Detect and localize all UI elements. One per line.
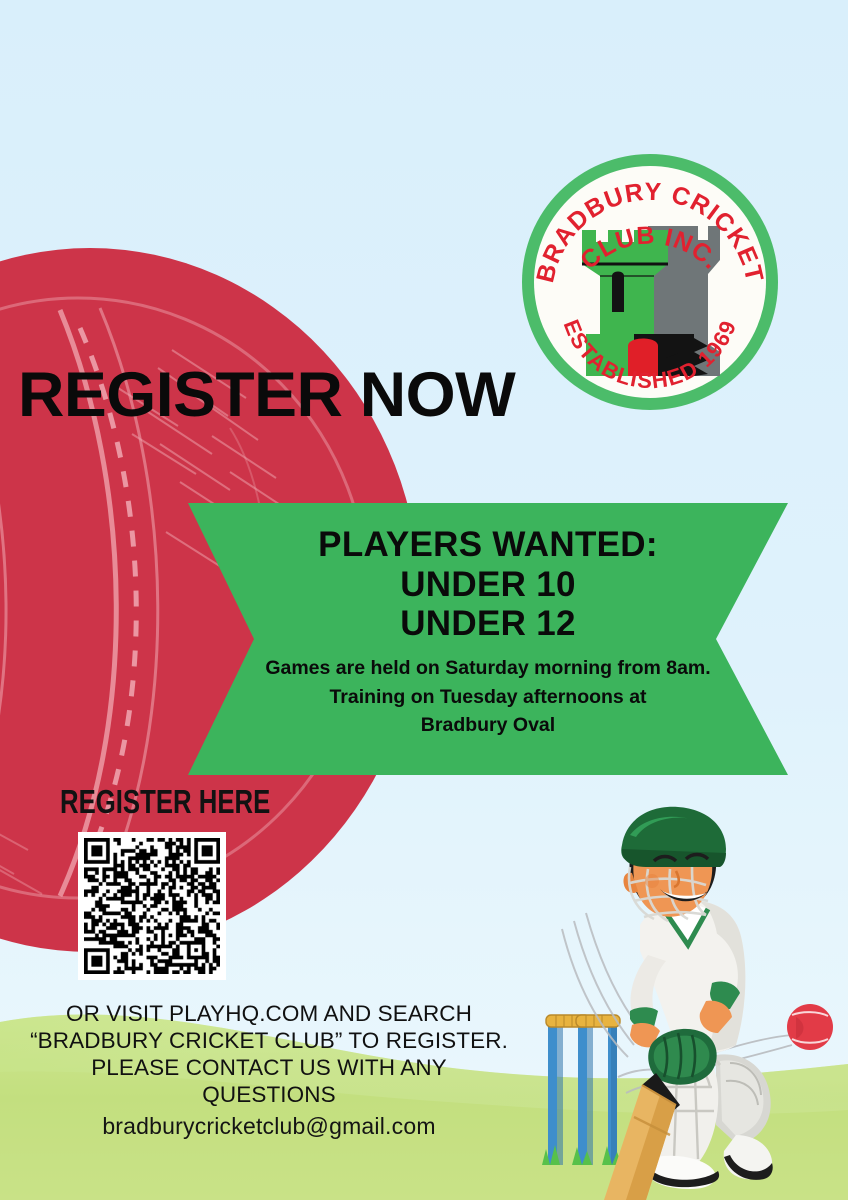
banner-body-2: Training on Tuesday afternoons at [329,683,646,712]
banner-line-3: UNDER 12 [400,604,576,644]
footer-line-4: QUESTIONS [24,1081,514,1108]
contact-email[interactable]: bradburycricketclub@gmail.com [24,1113,514,1140]
cricket-ball-icon [787,1004,833,1050]
register-here-label: REGISTER HERE [60,783,270,821]
banner-line-1: PLAYERS WANTED: [318,525,658,565]
back-leg [716,1054,773,1179]
cricket-batsman-illustration [530,805,848,1200]
banner-body-1: Games are held on Saturday morning from … [265,654,710,683]
players-wanted-banner: PLAYERS WANTED: UNDER 10 UNDER 12 Games … [188,503,788,775]
banner-body-3: Bradbury Oval [421,711,555,740]
footer-line-2: “BRADBURY CRICKET CLUB” TO REGISTER. [24,1027,514,1054]
qr-code[interactable] [78,832,226,980]
qr-code-canvas[interactable] [84,838,220,974]
footer-instructions: OR VISIT PLAYHQ.COM AND SEARCH “BRADBURY… [24,1000,514,1108]
footer-line-3: PLEASE CONTACT US WITH ANY [24,1054,514,1081]
banner-line-2: UNDER 10 [400,565,576,605]
poster-canvas: BRADBURY CRICKET CLUB INC. ESTABLISHED 1… [0,0,848,1200]
page-title: REGISTER NOW [18,364,569,427]
footer-line-1: OR VISIT PLAYHQ.COM AND SEARCH [24,1000,514,1027]
